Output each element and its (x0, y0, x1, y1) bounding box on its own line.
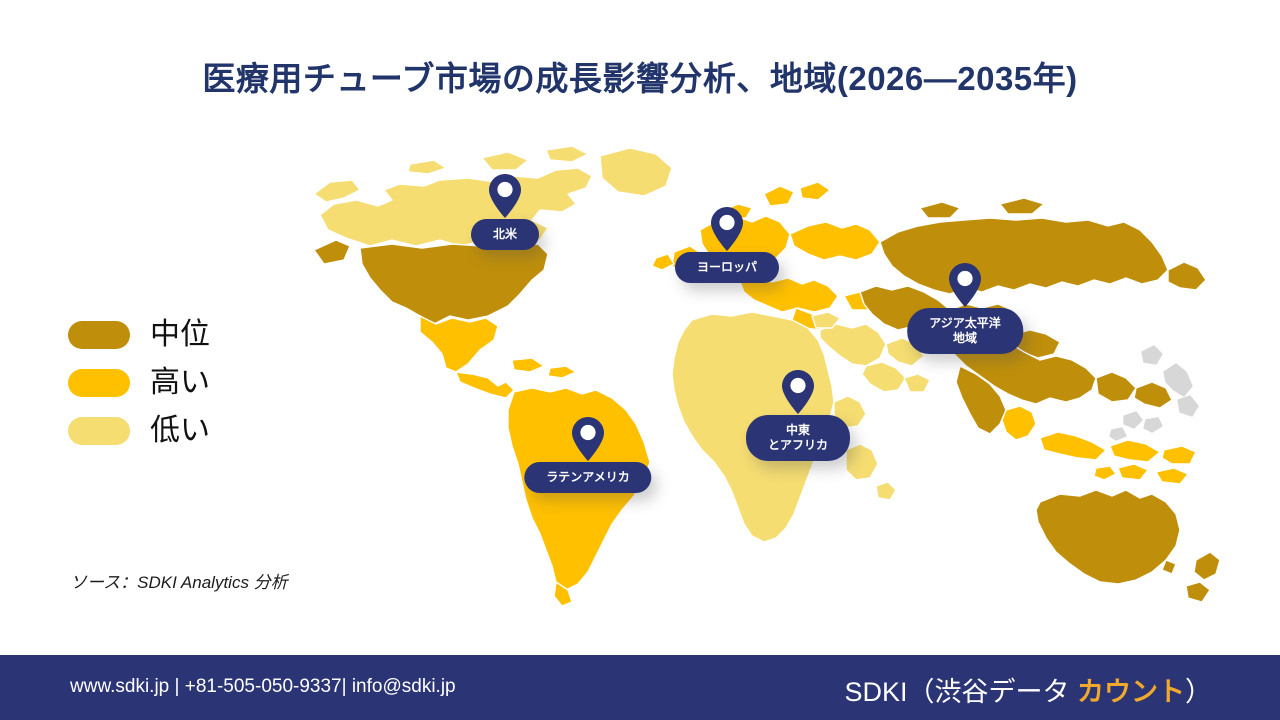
location-pin-icon (488, 173, 522, 219)
legend-swatch-high (68, 369, 130, 397)
region-southeast-asia (1002, 406, 1196, 484)
world-map-container: 北米 ヨーロッパ アジア太平洋 地域 中東 とアフリカ ラテンアメリカ (300, 120, 1250, 630)
footer-brand-suffix: ） (1185, 677, 1212, 707)
location-pin-icon (948, 262, 982, 308)
legend-item-high: 高い (68, 360, 328, 406)
source-note: ソース：SDKI Analytics 分析 (70, 568, 288, 593)
location-pin-icon (710, 206, 744, 252)
map-pin-label-europe: ヨーロッパ (675, 252, 779, 283)
footer-brand-prefix: SDKI（渋谷データ (844, 677, 1077, 707)
legend-label-low: 低い (150, 416, 210, 446)
map-pin-label-middle-east-africa: 中東 とアフリカ (746, 415, 850, 461)
footer-brand-accent: カウント (1077, 677, 1185, 707)
legend-item-low: 低い (68, 408, 328, 454)
map-pin-label-asia-pacific: アジア太平洋 地域 (907, 308, 1023, 354)
legend-swatch-low (68, 417, 130, 445)
location-pin-icon (571, 416, 605, 462)
page-title: 医療用チューブ市場の成長影響分析、地域(2026—2035年) (0, 52, 1280, 100)
legend-item-medium: 中位 (68, 312, 328, 358)
footer-contact-info: www.sdki.jp | +81-505-050-9337| info@sdk… (70, 676, 456, 698)
legend-swatch-medium (68, 321, 130, 349)
map-legend: 中位 高い 低い (68, 312, 328, 456)
region-united-states (314, 240, 548, 324)
region-mexico-central-america (420, 316, 576, 398)
legend-label-high: 高い (150, 368, 210, 398)
world-map-svg (300, 120, 1250, 630)
location-pin-icon (781, 369, 815, 415)
map-pin-label-north-america: 北米 (471, 219, 539, 250)
region-australia-new-zealand (1036, 490, 1220, 602)
map-pin-label-latin-america: ラテンアメリカ (524, 462, 651, 493)
footer-brand: SDKI（渋谷データ カウント） (844, 670, 1212, 709)
legend-label-medium: 中位 (150, 320, 210, 350)
